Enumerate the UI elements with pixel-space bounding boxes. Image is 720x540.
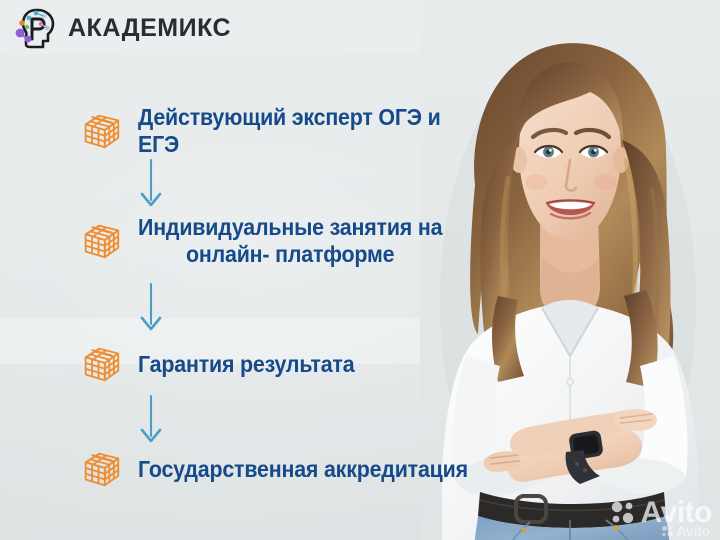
advertisement-banner: АКАДЕМИКС	[0, 0, 720, 540]
feature-item: Индивидуальные занятия на онлайн- платфо…	[78, 214, 465, 268]
head-profile-molecule-icon	[14, 7, 68, 49]
orange-cube-icon	[78, 218, 124, 264]
brand-name: АКАДЕМИКС	[68, 16, 231, 41]
down-arrow-icon	[138, 158, 164, 210]
orange-cube-icon	[78, 446, 124, 492]
brand-logo: АКАДЕМИКС	[14, 6, 231, 50]
feature-label: Государственная аккредитация	[138, 456, 468, 483]
down-arrow-icon	[138, 282, 164, 334]
feature-label: Индивидуальные занятия на онлайн- платфо…	[138, 214, 442, 268]
feature-item: Гарантия результата	[78, 341, 371, 387]
feature-label: Действующий эксперт ОГЭ и ЕГЭ	[138, 104, 475, 158]
feature-item: Государственная аккредитация	[78, 446, 493, 492]
orange-cube-icon	[78, 341, 124, 387]
feature-label: Гарантия результата	[138, 351, 354, 378]
orange-cube-icon	[78, 108, 124, 154]
down-arrow-icon	[138, 394, 164, 446]
feature-item: Действующий эксперт ОГЭ и ЕГЭ	[78, 104, 500, 158]
